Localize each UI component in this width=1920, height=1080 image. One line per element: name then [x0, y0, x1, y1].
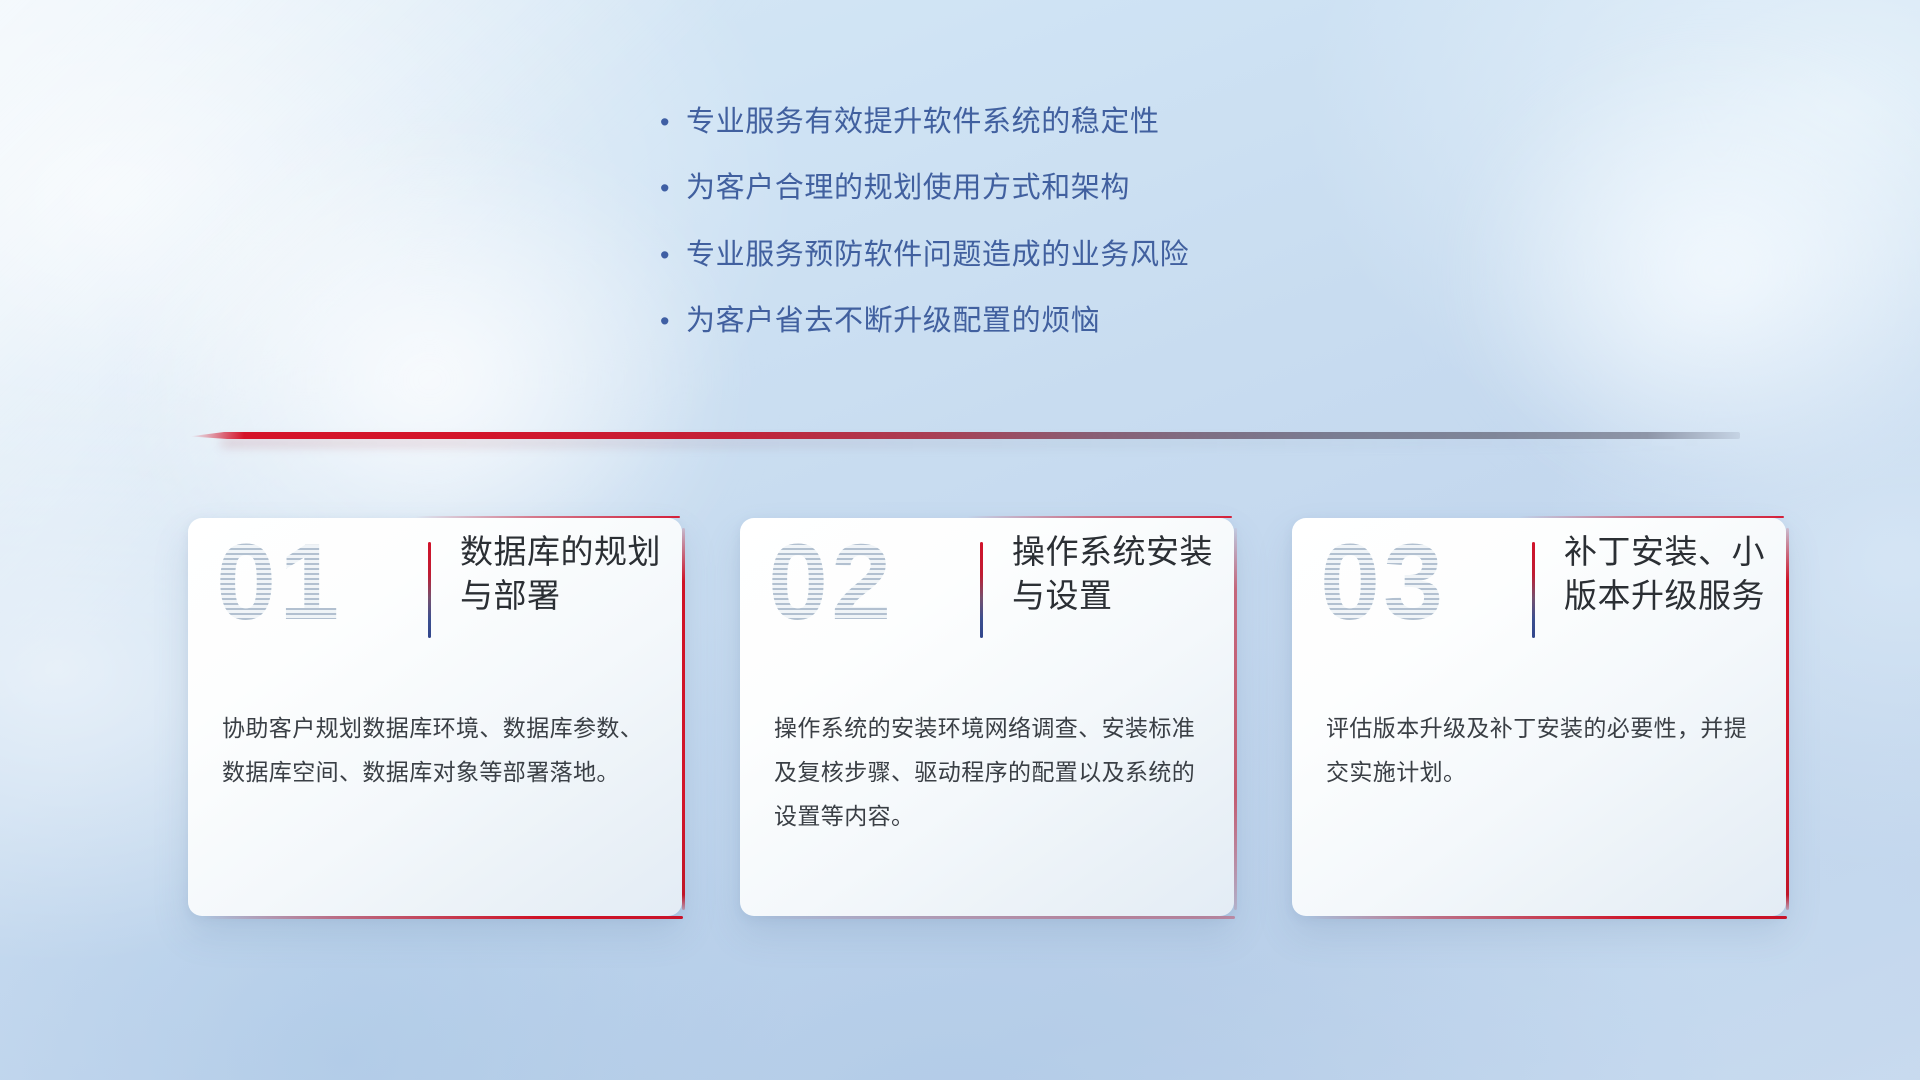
list-item: • 为客户合理的规划使用方式和架构 — [660, 170, 1480, 206]
card-header: 03 03 补丁安装、小版本升级服务 — [1292, 518, 1786, 686]
bullet-text: 专业服务预防软件问题造成的业务风险 — [686, 237, 1189, 273]
bullet-text: 为客户合理的规划使用方式和架构 — [686, 170, 1130, 206]
bullet-dot-icon: • — [660, 175, 686, 202]
card-rule-divider — [428, 542, 431, 638]
divider-line — [190, 432, 1740, 439]
card-title: 补丁安装、小版本升级服务 — [1564, 530, 1766, 618]
bullet-dot-icon: • — [660, 242, 686, 269]
bullet-dot-icon: • — [660, 308, 686, 335]
card-body-text: 评估版本升级及补丁安装的必要性，并提交实施计划。 — [1326, 706, 1756, 794]
list-item: • 为客户省去不断升级配置的烦恼 — [660, 303, 1480, 339]
card-number-watermark: 02 — [768, 528, 894, 636]
card-header: 02 02 操作系统安装与设置 — [740, 518, 1234, 686]
card-accent-bottom — [1308, 916, 1787, 919]
list-item: • 专业服务有效提升软件系统的稳定性 — [660, 104, 1480, 140]
bullet-dot-icon: • — [660, 109, 686, 136]
bullet-text: 为客户省去不断升级配置的烦恼 — [686, 303, 1100, 339]
card-accent-bottom — [204, 916, 683, 919]
card-rule-divider — [1532, 542, 1535, 638]
service-cards: 01 01 数据库的规划与部署 协助客户规划数据库环境、数据库参数、数据库空间、… — [0, 518, 1920, 938]
benefits-bullet-list: • 专业服务有效提升软件系统的稳定性 • 为客户合理的规划使用方式和架构 • 专… — [660, 104, 1480, 369]
card-header: 01 01 数据库的规划与部署 — [188, 518, 682, 686]
card-accent-right — [1786, 528, 1789, 910]
card-number-watermark: 03 — [1320, 528, 1446, 636]
divider-shadow — [221, 439, 1709, 447]
section-divider — [190, 428, 1740, 444]
card-accent-right — [1234, 528, 1237, 910]
service-card-02[interactable]: 02 02 操作系统安装与设置 操作系统的安装环境网络调查、安装标准及复核步骤、… — [740, 518, 1234, 916]
list-item: • 专业服务预防软件问题造成的业务风险 — [660, 237, 1480, 273]
card-title: 操作系统安装与设置 — [1012, 530, 1214, 618]
card-number-watermark: 01 — [216, 528, 342, 636]
card-rule-divider — [980, 542, 983, 638]
card-title: 数据库的规划与部署 — [460, 530, 662, 618]
service-card-01[interactable]: 01 01 数据库的规划与部署 协助客户规划数据库环境、数据库参数、数据库空间、… — [188, 518, 682, 916]
card-accent-bottom — [756, 916, 1235, 919]
slide-root: • 专业服务有效提升软件系统的稳定性 • 为客户合理的规划使用方式和架构 • 专… — [0, 0, 1920, 1080]
service-card-03[interactable]: 03 03 补丁安装、小版本升级服务 评估版本升级及补丁安装的必要性，并提交实施… — [1292, 518, 1786, 916]
bullet-text: 专业服务有效提升软件系统的稳定性 — [686, 104, 1160, 140]
card-body-text: 协助客户规划数据库环境、数据库参数、数据库空间、数据库对象等部署落地。 — [222, 706, 652, 794]
card-body-text: 操作系统的安装环境网络调查、安装标准及复核步骤、驱动程序的配置以及系统的设置等内… — [774, 706, 1204, 838]
card-accent-right — [682, 528, 685, 910]
